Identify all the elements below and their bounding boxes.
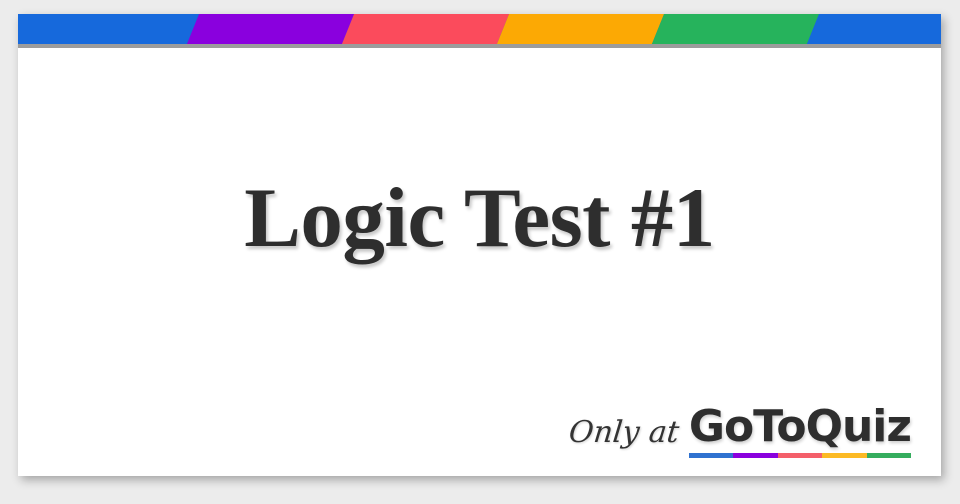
page-title: Logic Test #1 bbox=[244, 176, 715, 261]
stripe-segment-green bbox=[650, 14, 820, 44]
brand-underline-purple bbox=[733, 453, 777, 458]
brand-logo[interactable]: GoToQuiz bbox=[689, 405, 911, 458]
brand-underline bbox=[689, 453, 911, 458]
brand-underline-blue bbox=[689, 453, 733, 458]
brand-tagline: Only at bbox=[567, 415, 681, 450]
brand-wordmark: GoToQuiz bbox=[689, 405, 911, 449]
stripe-segment-red bbox=[340, 14, 510, 44]
stripe-segment-orange bbox=[495, 14, 665, 44]
title-card: Logic Test #1 Only at GoToQuiz bbox=[18, 14, 941, 476]
brand-underline-orange bbox=[822, 453, 866, 458]
stripe-segment-blue-2 bbox=[805, 14, 941, 44]
title-area: Logic Test #1 bbox=[18, 48, 941, 388]
brand-lockup[interactable]: Only at GoToQuiz bbox=[569, 405, 911, 458]
brand-underline-red bbox=[778, 453, 822, 458]
brand-underline-green bbox=[867, 453, 911, 458]
color-stripe-banner bbox=[18, 14, 941, 44]
slide-canvas: Logic Test #1 Only at GoToQuiz bbox=[0, 0, 960, 504]
stripe-segment-blue bbox=[18, 14, 201, 44]
stripe-segment-purple bbox=[185, 14, 355, 44]
